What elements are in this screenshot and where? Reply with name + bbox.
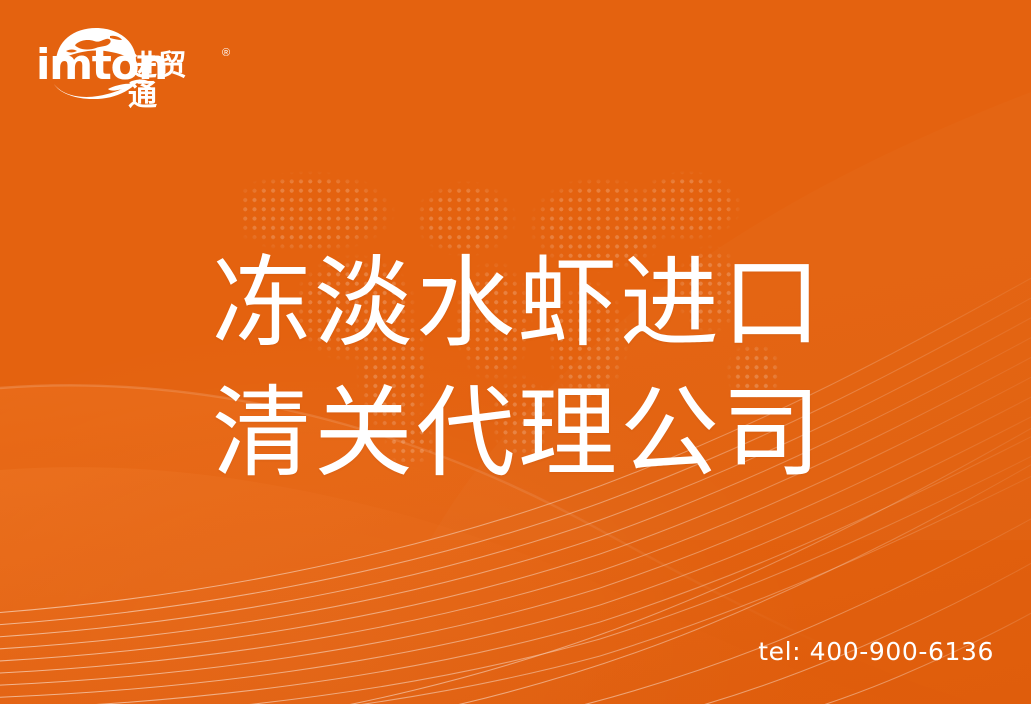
headline-line-1: 冻淡水虾进口 xyxy=(212,238,912,368)
logo-trademark-icon: ® xyxy=(222,47,230,59)
page-title: 冻淡水虾进口 清关代理公司 xyxy=(212,238,912,498)
logo-chinese-name: 进贸通 xyxy=(128,51,216,111)
brand-logo[interactable]: imton 进贸通 ® xyxy=(36,27,216,99)
headline-line-2: 清关代理公司 xyxy=(212,368,912,498)
poster-canvas: imton 进贸通 ® 冻淡水虾进口 清关代理公司 tel: 400-900-6… xyxy=(0,0,1031,704)
contact-telephone[interactable]: tel: 400-900-6136 xyxy=(758,638,994,666)
